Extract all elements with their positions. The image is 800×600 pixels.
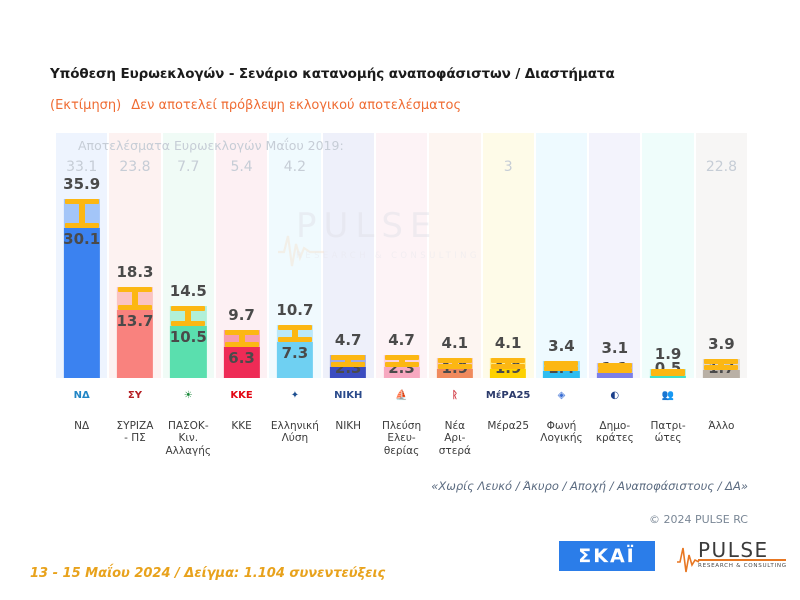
error-bar: [215, 330, 268, 347]
party-logo-icon: ✦: [291, 391, 299, 401]
prev-result-value: 23.8: [108, 159, 161, 175]
upper-bound-value: 3.9: [695, 335, 748, 353]
party-logo-icon: ◈: [558, 391, 566, 401]
upper-bound-value: 4.1: [482, 334, 535, 352]
error-bar: [695, 359, 748, 370]
error-bar: [108, 287, 161, 310]
chart-column: 23.818.313.7: [108, 133, 161, 378]
party-logo-icon: ΝΙΚΗ: [334, 391, 362, 401]
error-bar: [375, 355, 428, 367]
subtitle-estimate-tag: (Εκτίμηση): [50, 98, 121, 113]
upper-bound-value: 4.7: [375, 331, 428, 349]
party-name-label: ΚΚΕ: [215, 420, 268, 457]
party-name-label: ΠΑΣΟΚ-Κιν. Αλλαγής: [162, 420, 215, 457]
party-name-label: ΝΔ: [55, 420, 108, 457]
subtitle-disclaimer: Δεν αποτελεί πρόβλεψη εκλογικού αποτελέσ…: [131, 98, 461, 113]
party-name-row: ΝΔΣΥΡΙΖΑ - ΠΣΠΑΣΟΚ-Κιν. ΑλλαγήςΚΚΕΕλληνι…: [55, 420, 748, 457]
prev-result-value: 5.4: [215, 159, 268, 175]
chart-column: 4.72.3: [322, 133, 375, 378]
error-bar-cap-bottom: [438, 364, 472, 369]
upper-bound-value: 4.1: [428, 334, 481, 352]
prev-result-value: 3: [482, 159, 535, 175]
error-bar: [162, 306, 215, 326]
party-logo-cell: [695, 380, 748, 412]
skai-logo-text: ΣΚΑΪ: [578, 545, 635, 567]
party-name-label: Μέρα25: [482, 420, 535, 457]
chart-column: 7.714.510.5: [162, 133, 215, 378]
copyright-text: © 2024 PULSE RC: [649, 513, 748, 526]
upper-bound-value: 3.4: [535, 337, 588, 355]
party-name-label: Πλεύση Ελευ- θερίας: [375, 420, 428, 457]
party-logo-row: ΝΔΣΥ☀ΚΚΕ✦ΝΙΚΗ⛵ᚱΜέΡΑ25◈◐👥: [55, 380, 748, 412]
pulse-logo-rule: [698, 559, 786, 561]
skai-logo: ΣΚΑΪ: [559, 541, 655, 571]
chart-column: 3.11.1: [588, 133, 641, 378]
chart-column: 34.11.9: [482, 133, 535, 378]
error-bar: [588, 363, 641, 373]
error-bar: [428, 358, 481, 369]
fieldwork-date-sample: 13 - 15 Μαΐου 2024 / Δείγμα: 1.104 συνεν…: [30, 566, 385, 581]
chart-column: 5.49.76.3: [215, 133, 268, 378]
error-bar-cap-bottom: [385, 362, 419, 367]
prev-result-value: 7.7: [162, 159, 215, 175]
upper-bound-value: 3.1: [588, 339, 641, 357]
party-logo-cell: ΝΔ: [55, 380, 108, 412]
party-name-label: Νέα Αρι- στερά: [428, 420, 481, 457]
error-bar: [641, 369, 694, 376]
party-logo-cell: ⛵: [375, 380, 428, 412]
party-logo-cell: ΣΥ: [108, 380, 161, 412]
error-bar: [482, 358, 535, 369]
chart-column: 4.11.9: [428, 133, 481, 378]
column-background: [642, 133, 693, 378]
party-logo-icon: 👥: [662, 391, 674, 401]
upper-bound-value: 14.5: [162, 282, 215, 300]
error-bar-cap-bottom: [65, 223, 99, 228]
party-logo-icon: ⛵: [395, 391, 407, 401]
prev-results-label: Αποτελέσματα Ευρωεκλογών Μαΐου 2019:: [78, 138, 344, 153]
party-logo-icon: ◐: [610, 391, 619, 401]
party-logo-icon: ΜέΡΑ25: [486, 391, 531, 401]
error-bar-cap-bottom: [598, 368, 632, 373]
party-logo-cell: ΝΙΚΗ: [322, 380, 375, 412]
error-bar-cap-bottom: [491, 364, 525, 369]
error-bar: [322, 355, 375, 367]
prev-result-value: 33.1: [55, 159, 108, 175]
chart-panel: 33.135.930.123.818.313.77.714.510.55.49.…: [55, 133, 748, 378]
pulse-logo: PULSE RESEARCH & CONSULTING: [676, 538, 788, 574]
error-bar-cap-bottom: [331, 362, 365, 367]
error-bar-cap-bottom: [704, 365, 738, 370]
lower-bound-value: 7.3: [268, 344, 321, 362]
error-bar-cap-bottom: [225, 342, 259, 347]
party-name-label: Πατρι- ώτες: [641, 420, 694, 457]
error-bar-cap-bottom: [544, 366, 578, 371]
error-bar-cap-bottom: [651, 371, 685, 376]
upper-bound-value: 35.9: [55, 175, 108, 193]
upper-bound-value: 4.7: [322, 331, 375, 349]
upper-bound-value: 10.7: [268, 301, 321, 319]
lower-bound-value: 6.3: [215, 349, 268, 367]
lower-bound-value: 30.1: [55, 230, 108, 248]
party-logo-icon: ᚱ: [452, 391, 458, 401]
pulse-logo-tagline: RESEARCH & CONSULTING: [698, 563, 787, 569]
page-title: Υπόθεση Ευρωεκλογών - Σενάριο κατανομής …: [50, 66, 615, 82]
chart-column: 4.72.3: [375, 133, 428, 378]
party-name-label: Άλλο: [695, 420, 748, 457]
upper-bound-value: 18.3: [108, 263, 161, 281]
party-logo-cell: 👥: [641, 380, 694, 412]
party-logo-cell: ☀: [162, 380, 215, 412]
error-bar-cap-bottom: [278, 337, 312, 342]
chart-column: 22.83.91.7: [695, 133, 748, 378]
chart-column: 1.90.5: [641, 133, 694, 378]
error-bar: [268, 325, 321, 342]
party-name-label: Φωνή Λογικής: [535, 420, 588, 457]
party-name-label: Δημο- κράτες: [588, 420, 641, 457]
lower-bound-value: 13.7: [108, 312, 161, 330]
party-logo-cell: ΜέΡΑ25: [482, 380, 535, 412]
lower-bound-value: 10.5: [162, 328, 215, 346]
chart-column: 33.135.930.1: [55, 133, 108, 378]
party-logo-icon: ΝΔ: [74, 391, 90, 401]
party-name-label: ΣΥΡΙΖΑ - ΠΣ: [108, 420, 161, 457]
party-name-label: Ελληνική Λύση: [268, 420, 321, 457]
party-logo-cell: ◈: [535, 380, 588, 412]
pulse-watermark: [278, 222, 324, 278]
error-bar: [55, 199, 108, 228]
prev-result-value: 4.2: [268, 159, 321, 175]
prev-result-value: 22.8: [695, 159, 748, 175]
party-logo-icon: ΚΚΕ: [230, 391, 252, 401]
party-logo-icon: ΣΥ: [128, 391, 142, 401]
party-logo-icon: ☀: [184, 391, 193, 401]
error-bar-cap-bottom: [118, 305, 152, 310]
exclusions-note: «Χωρίς Λευκό / Άκυρο / Αποχή / Αναποφάσι…: [431, 479, 748, 493]
party-logo-cell: ᚱ: [428, 380, 481, 412]
party-logo-cell: ✦: [268, 380, 321, 412]
party-name-label: ΝΙΚΗ: [322, 420, 375, 457]
error-bar: [535, 361, 588, 371]
upper-bound-value: 9.7: [215, 306, 268, 324]
party-logo-cell: ΚΚΕ: [215, 380, 268, 412]
party-logo-cell: ◐: [588, 380, 641, 412]
page-subtitle: (Εκτίμηση)Δεν αποτελεί πρόβλεψη εκλογικο…: [50, 98, 461, 113]
bar-lower-value: [64, 228, 100, 378]
chart-column: 3.41.4: [535, 133, 588, 378]
poll-chart-screenshot: Υπόθεση Ευρωεκλογών - Σενάριο κατανομής …: [0, 0, 800, 600]
error-bar-cap-bottom: [171, 321, 205, 326]
